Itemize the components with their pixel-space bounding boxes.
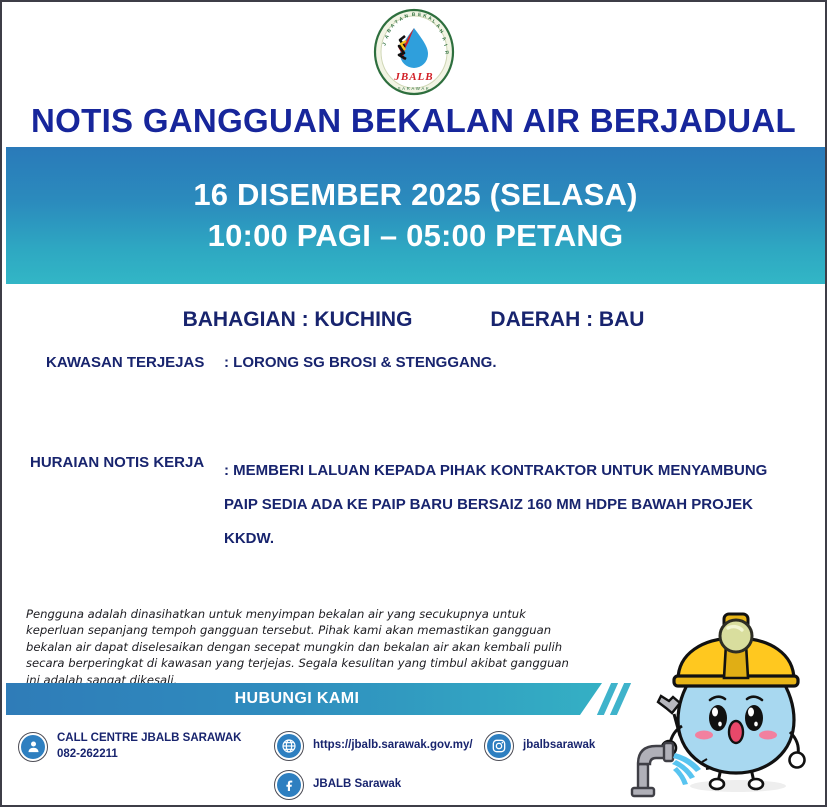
contact-bar: HUBUNGI KAMI [6,683,602,715]
svg-text:SARAWAK: SARAWAK [397,86,430,91]
bahagian-label: BAHAGIAN : KUCHING [183,308,413,332]
logo-container: JBALB SARAWAK JABATAN BEKALAN AIR LUAR B… [2,8,825,96]
globe-icon [274,731,304,761]
notice-time: 10:00 PAGI – 05:00 PETANG [208,216,624,257]
page-title: NOTIS GANGGUAN BEKALAN AIR BERJADUAL [2,102,825,140]
notice-poster: JBALB SARAWAK JABATAN BEKALAN AIR LUAR B… [0,0,827,807]
contact-call-centre-text: CALL CENTRE JBALB SARAWAK 082-262211 [57,731,241,763]
work-description-line-1: : MEMBERI LALUAN KEPADA PIHAK KONTRAKTOR… [224,454,767,488]
affected-area-value: : LORONG SG BROSI & STENGGANG. [224,354,497,371]
contact-call-centre[interactable]: CALL CENTRE JBALB SARAWAK 082-262211 [18,731,241,763]
contact-instagram[interactable]: jbalbsarawak [484,731,595,761]
date-banner: 16 DISEMBER 2025 (SELASA) 10:00 PAGI – 0… [6,147,825,284]
affected-area-row: KAWASAN TERJEJAS : LORONG SG BROSI & STE… [46,354,497,371]
contact-instagram-text: jbalbsarawak [523,738,595,754]
contact-call-centre-line1: CALL CENTRE JBALB SARAWAK [57,732,241,744]
facebook-icon [274,770,304,800]
work-description-line-3: KKDW. [224,522,767,556]
contact-bar-title: HUBUNGI KAMI [235,690,360,708]
contact-website[interactable]: https://jbalb.sarawak.gov.my/ [274,731,473,761]
svg-text:JABATAN BEKALAN AIR LUAR BANDA: JABATAN BEKALAN AIR LUAR BANDAR [372,8,375,9]
jbalb-logo-icon: JBALB SARAWAK JABATAN BEKALAN AIR LUAR B… [372,8,456,96]
instagram-icon [484,731,514,761]
water-droplet-mascot-icon [630,596,825,802]
work-description-line-2: PAIP SEDIA ADA KE PAIP BARU BERSAIZ 160 … [224,488,767,522]
disclaimer-text: Pengguna adalah dinasihatkan untuk menyi… [26,606,586,688]
daerah-label: DAERAH : BAU [490,308,644,332]
contact-website-text: https://jbalb.sarawak.gov.my/ [313,738,473,754]
contact-call-centre-line2: 082-262211 [57,747,241,763]
person-icon [18,732,48,762]
contact-facebook[interactable]: JBALB Sarawak [274,770,401,800]
svg-text:JBALB: JBALB [393,71,433,83]
affected-area-label: KAWASAN TERJEJAS [46,354,224,371]
work-description-value: : MEMBERI LALUAN KEPADA PIHAK KONTRAKTOR… [224,454,767,555]
work-description-row: HURAIAN NOTIS KERJA : MEMBERI LALUAN KEP… [30,454,767,555]
notice-date: 16 DISEMBER 2025 (SELASA) [193,175,637,216]
location-row: BAHAGIAN : KUCHING DAERAH : BAU [2,308,825,332]
work-description-label: HURAIAN NOTIS KERJA [30,454,224,471]
contact-facebook-text: JBALB Sarawak [313,777,401,793]
